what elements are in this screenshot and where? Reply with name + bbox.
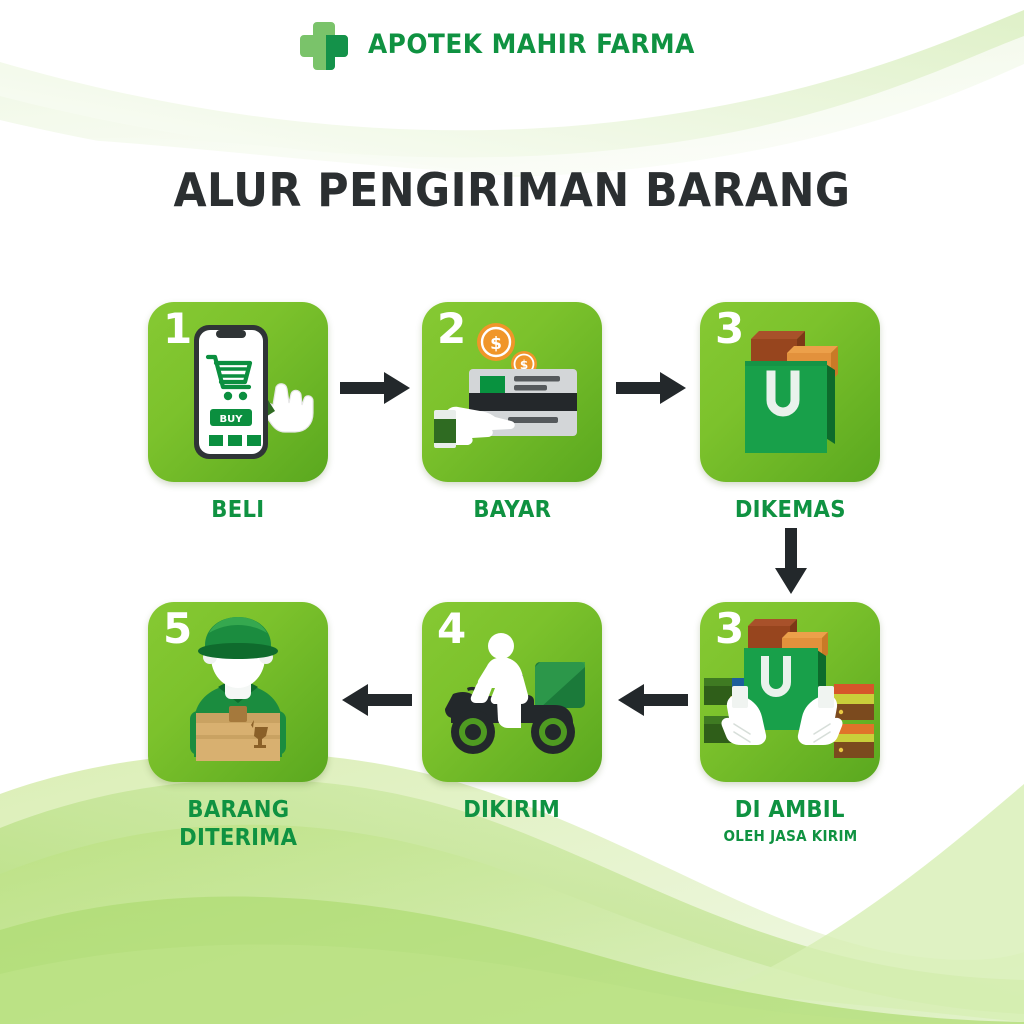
arrow-diambil-to-dikirim [616, 682, 688, 723]
step-card-1[interactable]: 1 [148, 302, 328, 482]
step-label-di-ambil: DI AMBIL [700, 796, 880, 824]
step-label-dikemas: DIKEMAS [700, 496, 880, 524]
flow-diagram: 1 [0, 0, 1024, 1024]
step-label-barang-diterima: BARANG DITERIMA [148, 796, 328, 852]
step-beli[interactable]: 1 [148, 302, 328, 524]
step-number-1: 1 [163, 306, 192, 352]
step-number-2: 2 [437, 306, 466, 352]
step-sublabel-di-ambil: OLEH JASA KIRIM [700, 827, 880, 845]
buy-button-label: BUY [220, 414, 244, 425]
step-dikemas[interactable]: 3 [700, 302, 880, 524]
arrow-beli-to-bayar [340, 370, 412, 411]
step-number-5: 4 [437, 606, 466, 652]
brand-name: APOTEK MAHIR FARMA [368, 29, 695, 60]
svg-text:$: $ [490, 334, 502, 354]
infographic-page: APOTEK MAHIR FARMA ALUR PENGIRIMAN BARAN… [0, 0, 1024, 1024]
pharmacy-cross-icon [300, 18, 352, 70]
step-card-3[interactable]: 3 [700, 302, 880, 482]
arrow-bayar-to-dikemas [616, 370, 688, 411]
step-dikirim[interactable]: 4 [422, 602, 602, 824]
step-label-dikirim: DIKIRIM [422, 796, 602, 824]
page-title: ALUR PENGIRIMAN BARANG [0, 163, 1024, 217]
step-label-beli: BELI [148, 496, 328, 524]
step-card-4[interactable]: 3 [700, 602, 880, 782]
step-card-2[interactable]: 2 $ $ [422, 302, 602, 482]
arrow-dikemas-to-diambil [774, 528, 808, 599]
arrow-dikirim-to-diterima [340, 682, 412, 723]
step-number-4: 3 [715, 606, 744, 652]
step-label-bayar: BAYAR [422, 496, 602, 524]
step-barang-diterima[interactable]: 5 [148, 602, 328, 852]
step-number-6: 5 [163, 606, 192, 652]
step-number-3: 3 [715, 306, 744, 352]
brand-header: APOTEK MAHIR FARMA [0, 12, 1024, 76]
page-title-text: ALUR PENGIRIMAN BARANG [174, 163, 851, 217]
step-di-ambil[interactable]: 3 [700, 602, 880, 845]
step-card-5[interactable]: 4 [422, 602, 602, 782]
step-card-6[interactable]: 5 [148, 602, 328, 782]
step-bayar[interactable]: 2 $ $ [422, 302, 602, 524]
